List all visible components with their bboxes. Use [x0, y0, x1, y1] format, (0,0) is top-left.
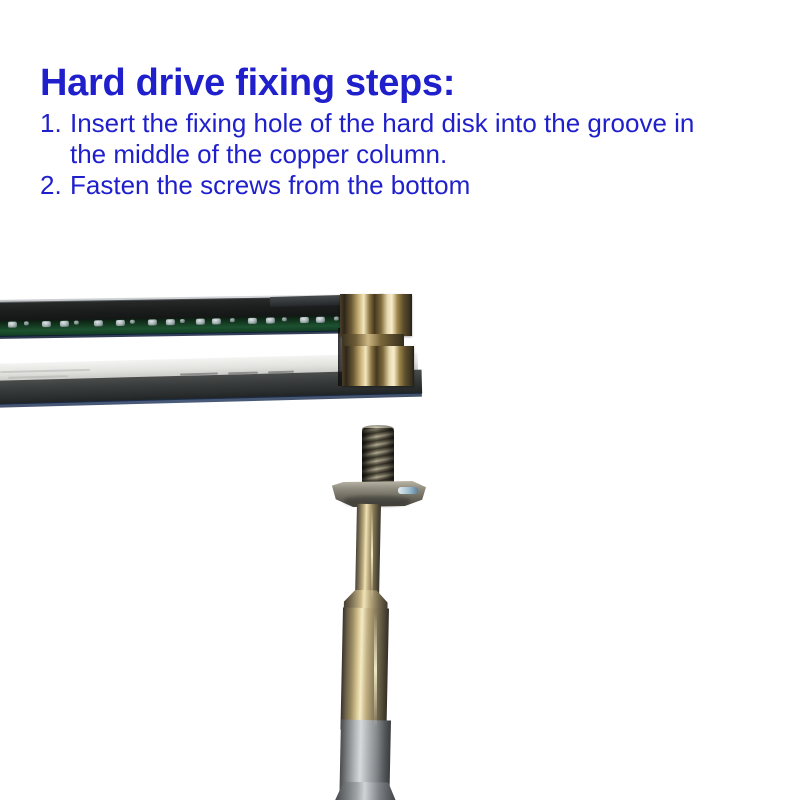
list-item: 1. Insert the fixing hole of the hard di… [40, 108, 740, 169]
instruction-image: Hard drive fixing steps: 1. Insert the f… [0, 0, 800, 800]
page-title: Hard drive fixing steps: [40, 64, 740, 102]
list-item: 2. Fasten the screws from the bottom [40, 170, 740, 201]
step-number: 2. [40, 170, 70, 201]
screw-head-highlight [398, 487, 418, 494]
instruction-text-block: Hard drive fixing steps: 1. Insert the f… [40, 64, 740, 202]
step-text: Fasten the screws from the bottom [70, 170, 732, 201]
steps-list: 1. Insert the fixing hole of the hard di… [40, 108, 740, 201]
screwdriver-shaft-lower [340, 608, 389, 731]
screwdriver-shaft-upper [355, 504, 381, 602]
screw-threads [362, 428, 394, 484]
screw-and-screwdriver [0, 250, 800, 800]
step-text: Insert the fixing hole of the hard disk … [70, 108, 732, 169]
shaft-gleam [371, 508, 373, 600]
step-number: 1. [40, 108, 70, 139]
shaft-gleam [374, 612, 377, 728]
screwdriver-handle-flare [335, 781, 397, 800]
product-photo [0, 250, 800, 800]
